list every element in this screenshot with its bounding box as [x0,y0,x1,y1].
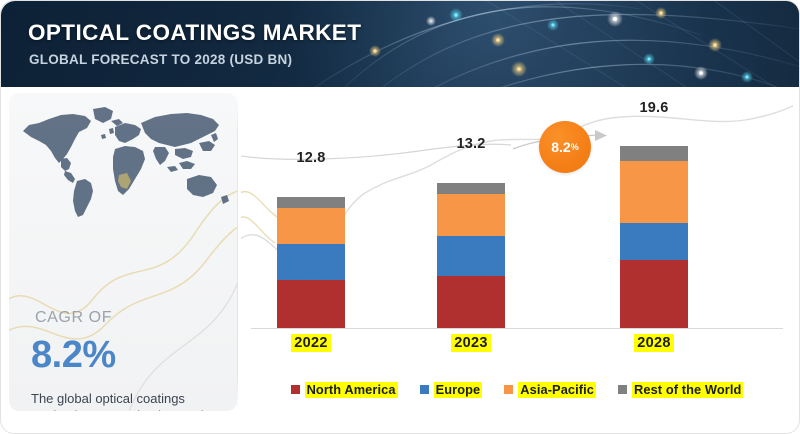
segment-asia-pacific-2022 [277,208,345,244]
chart-baseline [251,328,783,329]
cagr-value: 8.2% [31,336,116,374]
cagr-badge-value: 8.2 [551,140,570,154]
legend-item-asia-pacific[interactable]: Asia-Pacific [504,382,596,399]
legend-swatch-north-america [291,385,300,394]
bar-total-2022: 12.8 [251,151,371,166]
x-axis-label-2028: 2028 [594,334,714,352]
legend-label-north-america: North America [305,382,398,399]
cagr-badge[interactable]: 8.2% [539,121,591,173]
segment-north-america-2022 [277,280,345,328]
legend-label-asia-pacific: Asia-Pacific [518,382,596,399]
legend-swatch-asia-pacific [504,385,513,394]
segment-rest-of-the-world-2028 [620,146,688,161]
cagr-badge-unit: % [571,143,579,152]
bar-2028[interactable] [620,146,688,328]
segment-rest-of-the-world-2023 [437,183,505,194]
legend-item-europe[interactable]: Europe [420,382,483,399]
legend-label-europe: Europe [434,382,483,399]
x-axis-label-2022-text: 2022 [291,334,330,352]
world-map-icon [15,101,231,221]
cagr-badge-text: 8.2% [539,121,591,173]
segment-rest-of-the-world-2022 [277,197,345,208]
panel-divider [237,93,238,411]
infographic-frame: OPTICAL COATINGS MARKET GLOBAL FORECAST … [0,0,800,434]
header-banner: OPTICAL COATINGS MARKET GLOBAL FORECAST … [1,1,800,87]
cagr-caption: CAGR OF [35,310,112,326]
x-axis-label-2023: 2023 [411,334,531,352]
bar-2022[interactable] [277,197,345,328]
segment-asia-pacific-2023 [437,194,505,236]
page-title: OPTICAL COATINGS MARKET [28,22,361,45]
legend-item-rest-of-the-world[interactable]: Rest of the World [618,382,743,399]
x-axis-label-2028-text: 2028 [634,334,673,352]
x-axis-label-2023-text: 2023 [451,334,490,352]
legend-swatch-rest-of-the-world [618,385,627,394]
segment-europe-2023 [437,236,505,276]
segment-europe-2022 [277,244,345,280]
stacked-bar-chart: 12.8 2022 13.2 2023 8.2% 19.6 [241,93,793,411]
bar-2023[interactable] [437,183,505,328]
bar-total-2028: 19.6 [594,101,714,116]
segment-north-america-2028 [620,260,688,328]
legend-item-north-america[interactable]: North America [291,382,398,399]
segment-asia-pacific-2028 [620,161,688,223]
page-subtitle: GLOBAL FORECAST TO 2028 (USD BN) [29,53,292,67]
bar-total-2023: 13.2 [411,137,531,152]
segment-europe-2028 [620,223,688,260]
left-summary-card: CAGR OF 8.2% The global optical coatings… [9,93,237,411]
summary-description: The global optical coatings market is ex… [31,390,221,411]
segment-north-america-2023 [437,276,505,328]
chart-legend: North America Europe Asia-Pacific Rest o… [241,381,793,399]
x-axis-label-2022: 2022 [251,334,371,352]
legend-label-rest-of-the-world: Rest of the World [632,382,743,399]
legend-swatch-europe [420,385,429,394]
